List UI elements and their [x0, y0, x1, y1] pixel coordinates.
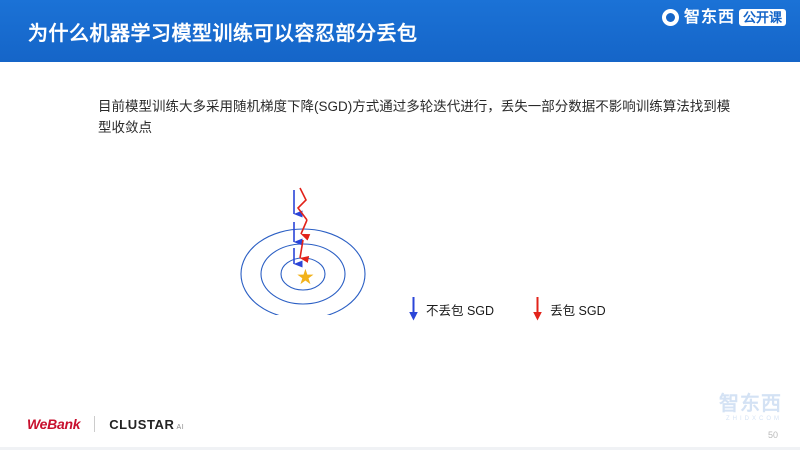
brand-logo: 智东西 公开课 [662, 9, 786, 26]
page-number: 50 [768, 430, 778, 440]
watermark: 智东西 ZHIDXCOM [719, 394, 782, 422]
webank-logo: WeBank [27, 416, 80, 432]
body-paragraph: 目前模型训练大多采用随机梯度下降(SGD)方式通过多轮迭代进行，丢失一部分数据不… [98, 96, 738, 138]
brand-name: 智东西 [684, 10, 735, 26]
footer-logos: WeBank CLUSTAR AI [27, 416, 184, 432]
contour-svg [188, 170, 418, 315]
sgd-contour-diagram: ★ [188, 170, 418, 315]
red-arrow-2 [300, 240, 303, 258]
slide: 为什么机器学习模型训练可以容忍部分丢包 智东西 公开课 目前模型训练大多采用随机… [0, 0, 800, 450]
star-icon: ★ [296, 267, 315, 288]
watermark-subtext: ZHIDXCOM [719, 416, 782, 422]
footer-divider [94, 416, 95, 432]
clustar-suffix: AI [177, 424, 185, 431]
down-arrow-icon [532, 296, 543, 322]
legend: 不丢包 SGD 丢包 SGD [408, 296, 606, 322]
slide-header: 为什么机器学习模型训练可以容忍部分丢包 智东西 公开课 [0, 0, 800, 62]
red-arrow-1 [301, 220, 307, 234]
page-title: 为什么机器学习模型训练可以容忍部分丢包 [28, 17, 418, 46]
red-path-1 [298, 188, 307, 220]
down-arrow-icon [408, 296, 419, 322]
clustar-name: CLUSTAR [109, 417, 174, 432]
watermark-text: 智东西 [719, 394, 782, 414]
legend-item-loss: 丢包 SGD [532, 296, 606, 322]
clustar-logo: CLUSTAR AI [109, 417, 184, 432]
legend-label-no-loss: 不丢包 SGD [426, 300, 494, 319]
legend-label-loss: 丢包 SGD [550, 300, 606, 319]
brand-mark-icon [662, 9, 679, 26]
legend-item-no-loss: 不丢包 SGD [408, 296, 494, 322]
brand-badge: 公开课 [739, 9, 786, 26]
